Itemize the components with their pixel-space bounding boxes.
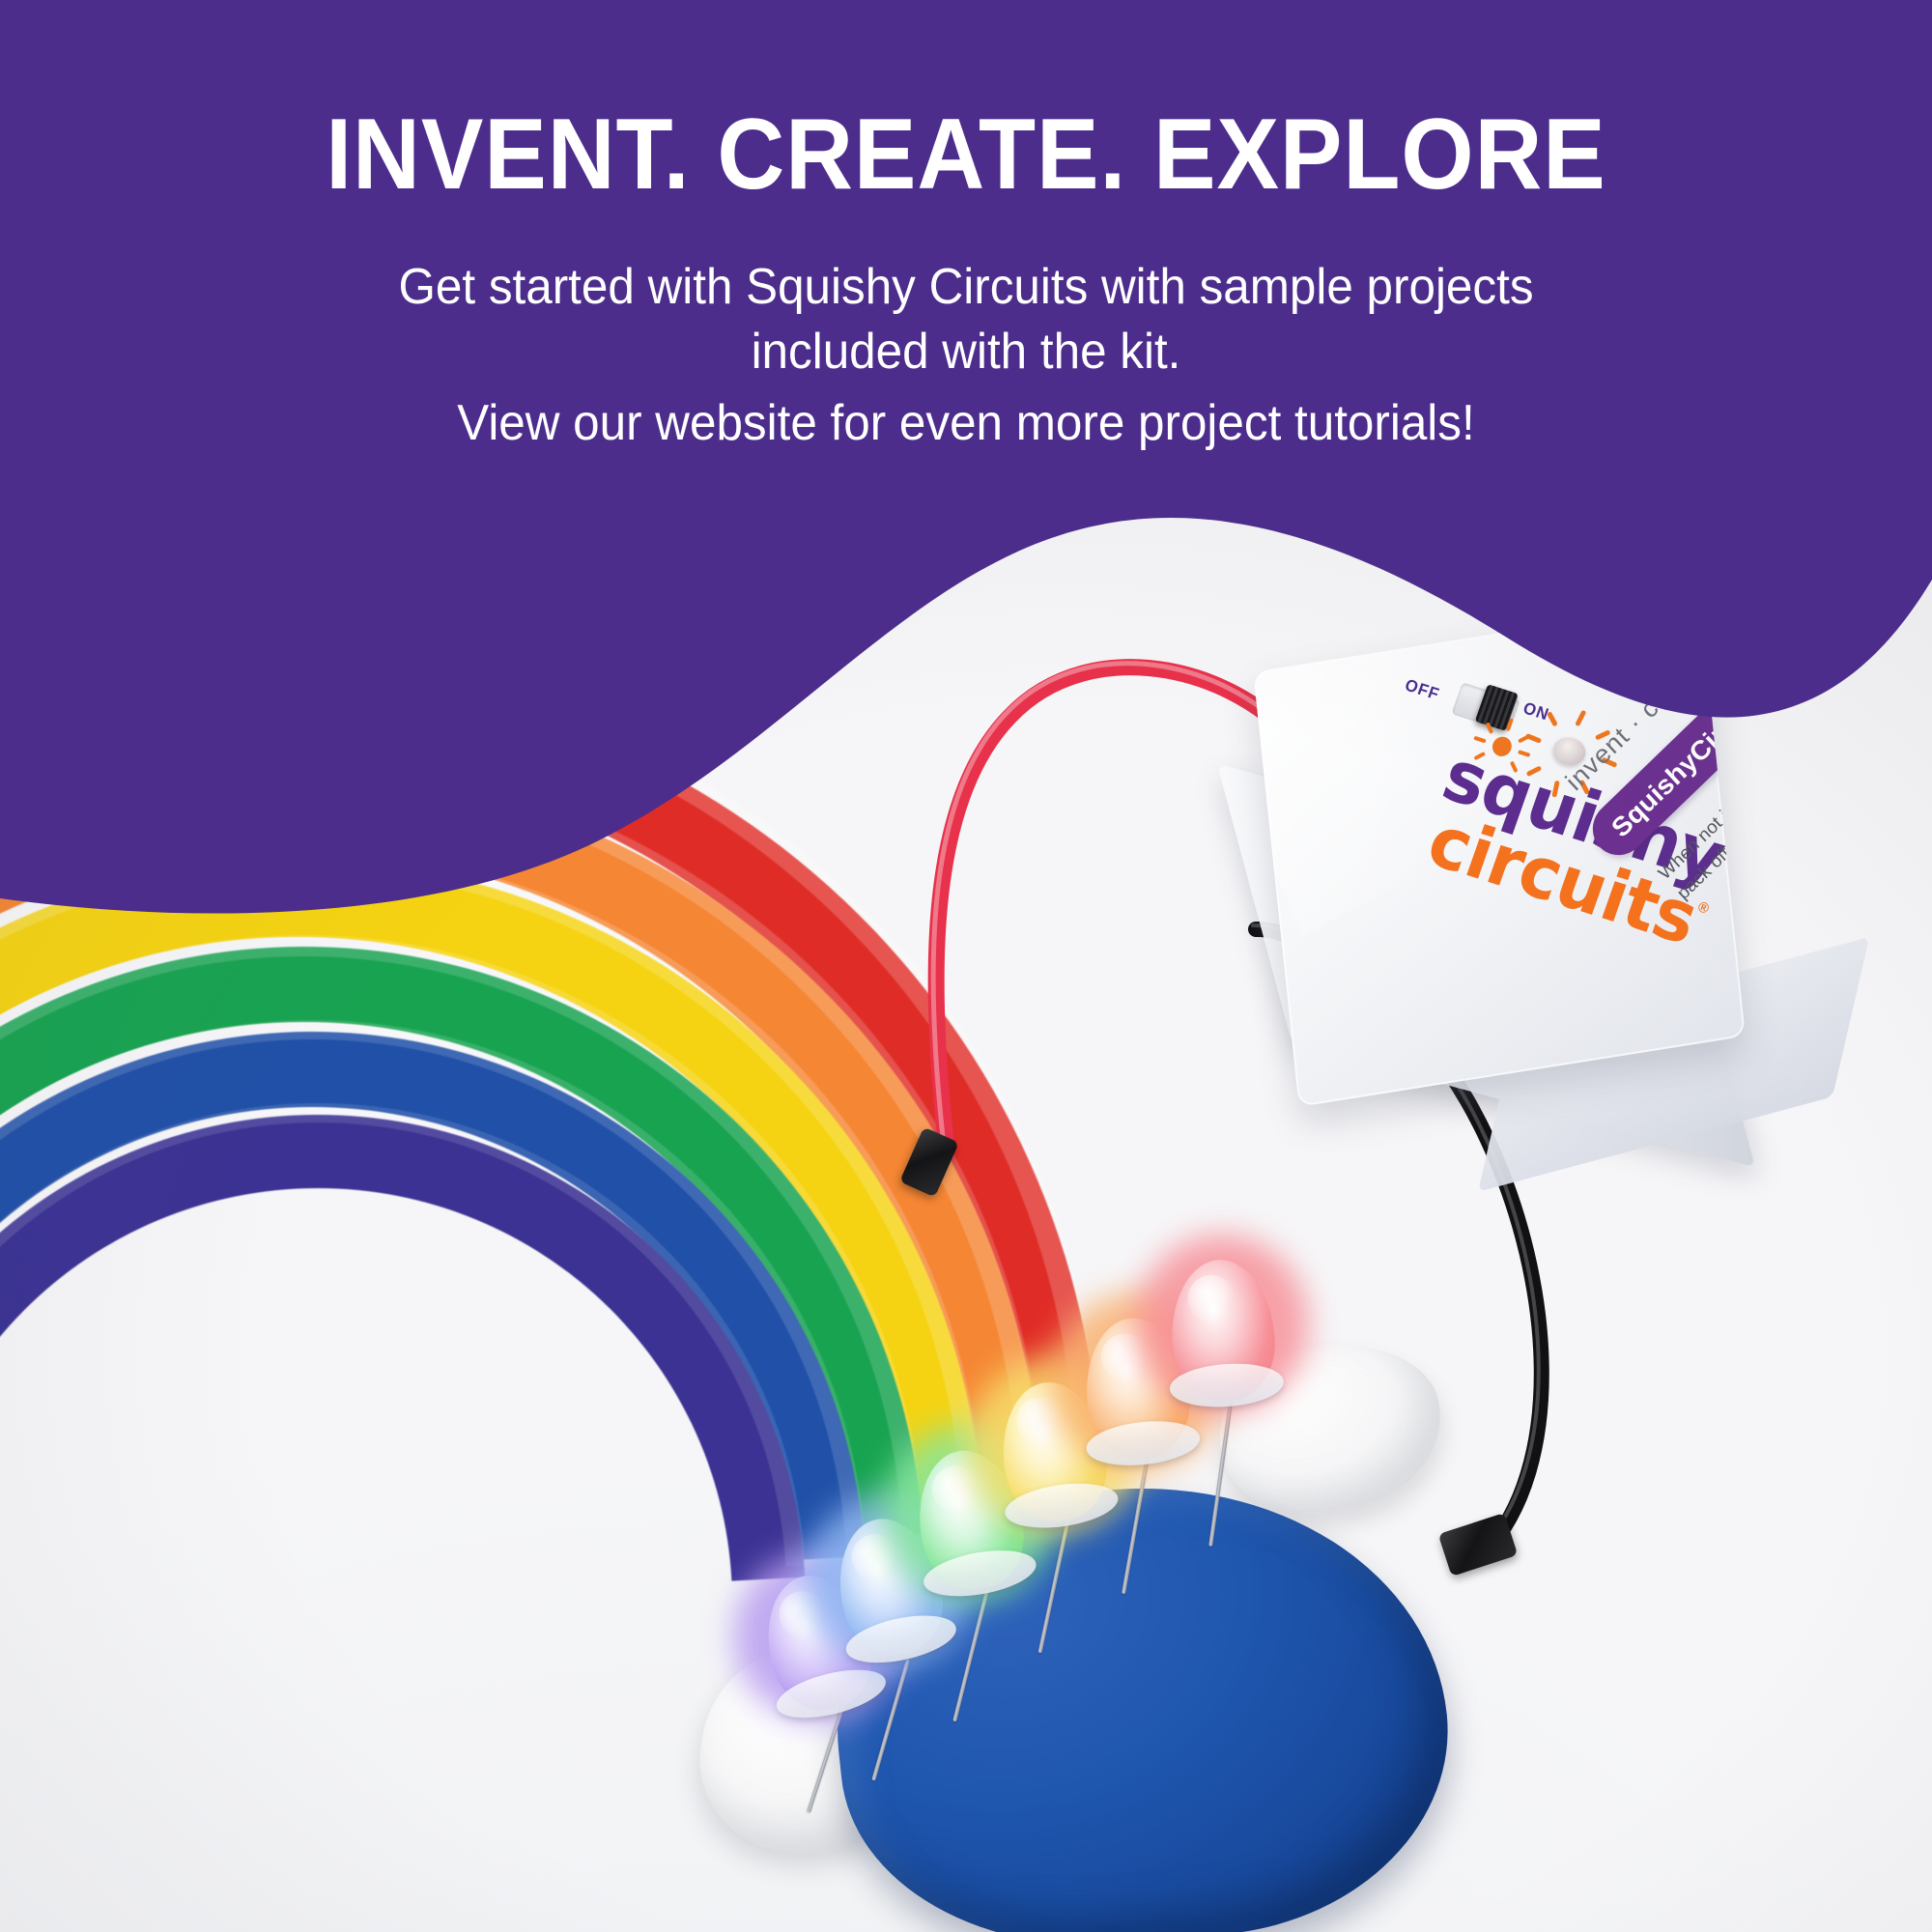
- poster-canvas: OFF ON: [0, 0, 1932, 1932]
- photo-vignette: [0, 0, 1932, 1932]
- product-photo: OFF ON: [0, 0, 1932, 1932]
